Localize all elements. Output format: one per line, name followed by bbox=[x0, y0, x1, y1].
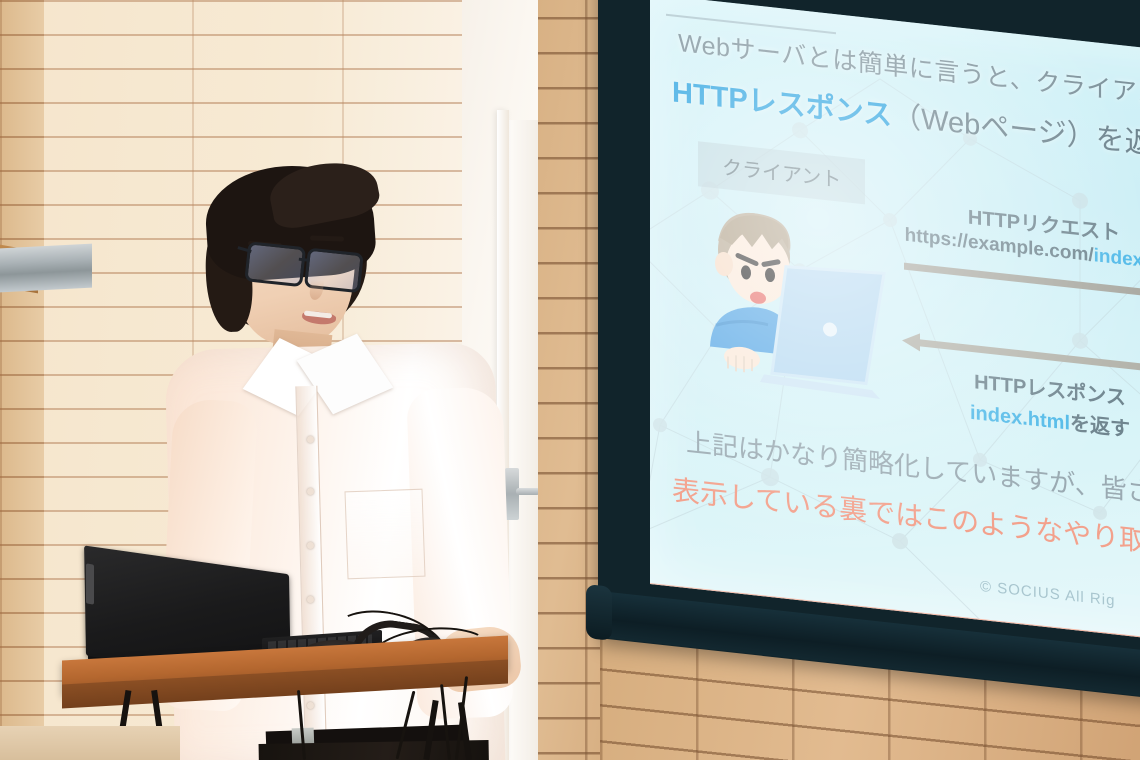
http-response-detail-text: を返す bbox=[1070, 413, 1130, 442]
slide-headline-highlight: HTTPレスポンス bbox=[672, 76, 892, 132]
slide-content: Webサーバとは簡単に言うと、クライアント HTTPレスポンス（Webページ）を… bbox=[650, 0, 1140, 645]
metal-wall-fixture bbox=[0, 244, 92, 293]
shirt-button bbox=[307, 542, 314, 549]
projector-screen: Webサーバとは簡単に言うと、クライアント HTTPレスポンス（Webページ）を… bbox=[598, 0, 1140, 658]
screen-bottom-cap bbox=[586, 584, 612, 641]
laptop-hinge-edge bbox=[86, 563, 94, 604]
brick-column-corner bbox=[0, 0, 44, 760]
lens-left bbox=[244, 241, 306, 287]
client-label-chip: クライアント bbox=[698, 141, 865, 204]
slide-headline-rest: （Webページ）を返すサー bbox=[892, 100, 1140, 170]
http-response-file: index.html bbox=[970, 402, 1070, 435]
shirt-button bbox=[307, 596, 314, 603]
http-request-block: HTTPリクエスト https://example.com/index.htm bbox=[894, 193, 1140, 305]
person-at-laptop-icon bbox=[702, 196, 892, 407]
brick-texture-corner bbox=[0, 0, 44, 760]
slide-surface: Webサーバとは簡単に言うと、クライアント HTTPレスポンス（Webページ）を… bbox=[650, 0, 1140, 645]
shirt-button bbox=[307, 702, 314, 709]
http-request-url-file: index.htm bbox=[1094, 245, 1140, 276]
floor bbox=[0, 726, 180, 760]
slide-copyright: © SOCIUS All Rig bbox=[980, 578, 1115, 610]
shirt-button bbox=[307, 488, 314, 495]
shirt-pocket bbox=[344, 489, 425, 580]
arrow-head bbox=[902, 331, 920, 351]
http-response-block: HTTPレスポンス index.htmlを返す bbox=[900, 333, 1140, 450]
shirt-button bbox=[307, 436, 314, 443]
presentation-photo: Webサーバとは簡単に言うと、クライアント HTTPレスポンス（Webページ）を… bbox=[0, 0, 1140, 760]
